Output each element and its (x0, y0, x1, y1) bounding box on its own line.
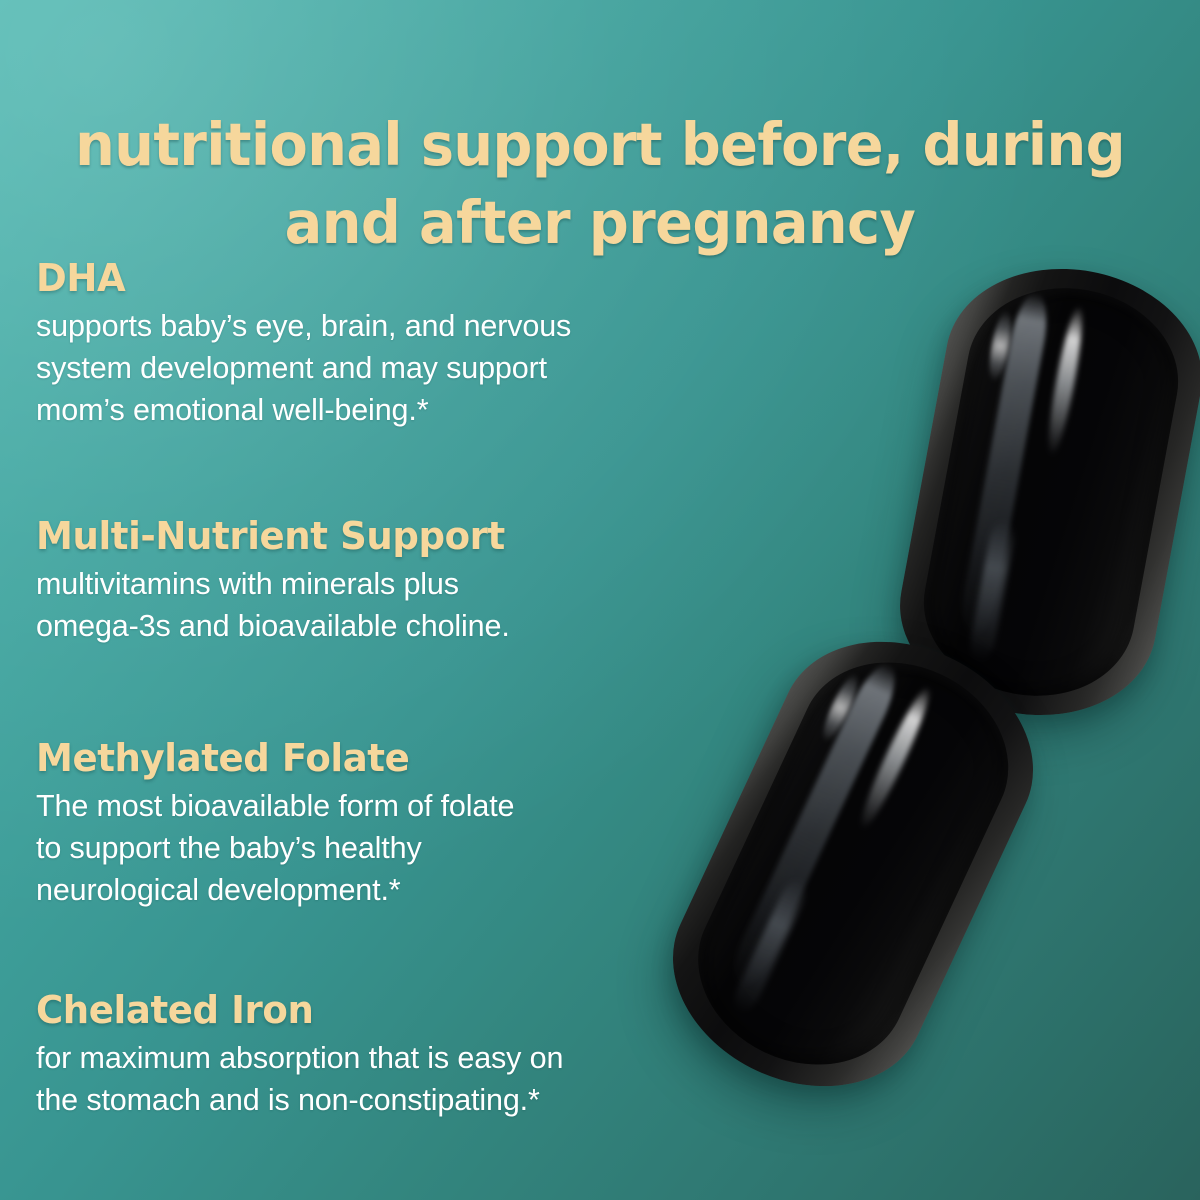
benefit-description: for maximum absorption that is easy on t… (36, 1037, 563, 1121)
page-title: nutritional support before, during and a… (33, 106, 1167, 262)
prenatal-supplement-benefits-poster: nutritional support before, during and a… (0, 0, 1200, 1200)
benefit-description: multivitamins with minerals plus omega-3… (36, 563, 510, 647)
benefit-title: Multi-Nutrient Support (36, 513, 505, 559)
benefit-item-chelated-iron: Chelated Iron for maximum absorption tha… (36, 987, 571, 1121)
benefit-title: Chelated Iron (36, 987, 558, 1033)
benefit-title: Methylated Folate (36, 735, 510, 781)
benefit-description: The most bioavailable form of folate to … (36, 785, 514, 911)
benefit-description: supports baby’s eye, brain, and nervous … (36, 305, 571, 431)
benefit-item-methylated-folate: Methylated Folate The most bioavailable … (36, 735, 522, 911)
benefit-title: DHA (36, 255, 566, 301)
benefit-item-dha: DHA supports baby’s eye, brain, and nerv… (36, 255, 579, 431)
benefit-item-multi-nutrient-support: Multi-Nutrient Support multivitamins wit… (36, 513, 517, 647)
